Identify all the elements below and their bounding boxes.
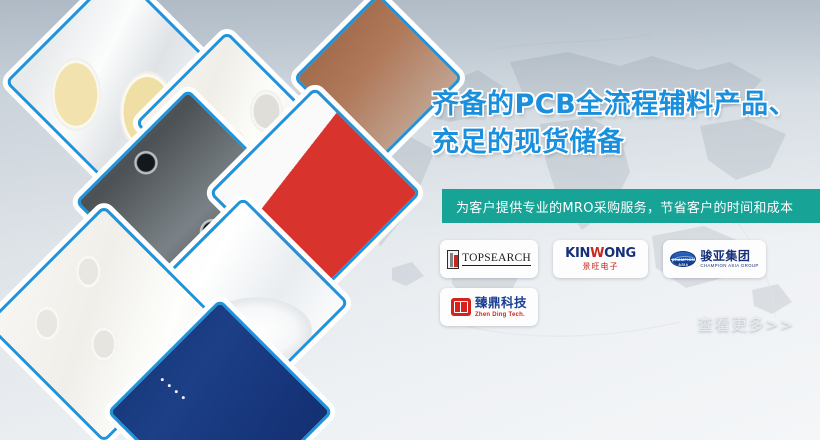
collage-tile-tape-rolls-yellow: [5, 0, 231, 195]
topsearch-mark-icon: [447, 250, 459, 269]
view-more-link[interactable]: 查看更多>>: [697, 311, 794, 335]
champion-asia-label-en: CHAMPION ASIA GROUP: [700, 264, 758, 268]
champion-asia-globe-icon: CHAMPION ASIA: [670, 251, 696, 267]
banner-content: 齐备的PCB全流程辅料产品、 充足的现货储备 为客户提供专业的MRO采购服务，节…: [430, 0, 820, 440]
collage-tile-label-jie: JIE: [188, 308, 211, 323]
kinwong-label-b: ONG: [604, 247, 636, 260]
subtitle-text: 为客户提供专业的MRO采购服务，节省客户的时间和成本: [456, 197, 793, 216]
collage-tile-grinding-wheels: [75, 89, 301, 315]
partner-logo-kinwong[interactable]: KINWONG 景旺电子: [553, 240, 648, 278]
partner-logo-zhen-ding[interactable]: 臻鼎科技 Zhen Ding Tech.: [440, 288, 538, 326]
headline-line-1: 齐备的PCB全流程辅料产品、: [432, 86, 820, 124]
champion-asia-globe-text: CHAMPION ASIA: [671, 257, 695, 267]
subtitle-bar: 为客户提供专业的MRO采购服务，节省客户的时间和成本: [442, 189, 820, 223]
kinwong-wordmark-icon: KINWONG 景旺电子: [565, 247, 636, 271]
collage-tile-film-rolls-white: [135, 31, 319, 215]
collage-tile-release-paper: JIE: [137, 197, 349, 409]
collage-tile-paper-sheets-red: [209, 87, 421, 299]
partner-logo-topsearch[interactable]: TOPSEARCH: [440, 240, 538, 278]
headline-line-2: 充足的现货储备: [432, 124, 820, 162]
champion-asia-label-cn: 骏亚集团: [700, 250, 758, 262]
kinwong-label-w: W: [590, 247, 604, 260]
zhen-ding-label-en: Zhen Ding Tech.: [475, 312, 527, 318]
product-photo-collage: JIE: [0, 0, 430, 440]
zhen-ding-label-cn: 臻鼎科技: [475, 297, 527, 310]
partner-logo-row-1: TOPSEARCH KINWONG 景旺电子 CHAMPION ASIA: [440, 240, 820, 278]
kinwong-label-cn: 景旺电子: [582, 263, 618, 271]
promo-banner: JIE 齐备的PCB全流程辅料产品、 充足的现货储备 为客户提供专业的MRO采购…: [0, 0, 820, 440]
kinwong-label-a: KIN: [565, 247, 590, 260]
topsearch-label: TOPSEARCH: [462, 252, 531, 266]
collage-tile-blue-film-bags: [107, 299, 333, 440]
zhen-ding-mark-icon: [451, 298, 471, 316]
collage-tile-plastic-tubes: [0, 205, 223, 440]
headline: 齐备的PCB全流程辅料产品、 充足的现货储备: [432, 86, 820, 162]
partner-logo-champion-asia[interactable]: CHAMPION ASIA 骏亚集团 CHAMPION ASIA GROUP: [663, 240, 766, 278]
